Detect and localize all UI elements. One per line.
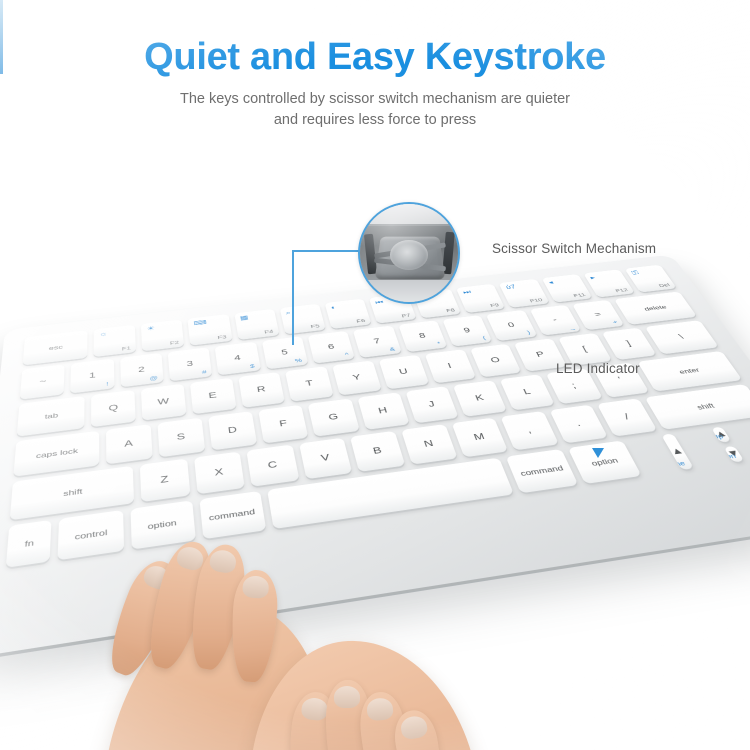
key-b[interactable]: B — [350, 431, 405, 472]
subtitle-line-2: and requires less force to press — [0, 110, 750, 131]
key-fn-icon: ☀ — [146, 325, 155, 333]
key-v[interactable]: V — [299, 438, 353, 480]
key-function-legend: F12 — [614, 287, 629, 293]
key-~[interactable]: ~ — [20, 364, 65, 399]
key-function-legend: F2 — [170, 339, 180, 346]
key-label: = — [593, 311, 603, 318]
key-label: command — [208, 507, 255, 521]
key-label: command — [519, 464, 564, 477]
key-label: P — [535, 351, 546, 359]
key-label: Z — [160, 475, 169, 485]
keyboard-row-function-row: esc☼F1☀F2⌨F3▦F4⌕F5◐F6⏮F7⏯F8⏭F9ὐ7F10◂F11▸… — [23, 265, 677, 366]
key-f1[interactable]: ☼F1 — [94, 325, 137, 357]
key-label: , — [526, 426, 533, 435]
key-label: option — [590, 456, 619, 467]
keyboard-key-layer: esc☼F1☀F2⌨F3▦F4⌕F5◐F6⏮F7⏯F8⏭F9ὐ7F10◂F11▸… — [0, 265, 750, 636]
key-4[interactable]: 4$ — [215, 342, 261, 376]
fingernail — [301, 697, 329, 722]
key-label: N — [423, 439, 435, 449]
key-label: enter — [678, 367, 701, 375]
key-secondary-legend: % — [294, 357, 302, 364]
key-fn-icon: ⌕ — [285, 309, 291, 316]
key-shift[interactable]: shift — [645, 384, 750, 430]
key-label: X — [214, 467, 224, 477]
key-m[interactable]: M — [451, 418, 508, 458]
key-k[interactable]: K — [453, 380, 507, 417]
key-label: tab — [45, 412, 59, 420]
keyboard-row-shift-row: shiftZXCVBNM,./shift — [10, 384, 750, 520]
key-label: 0 — [507, 322, 516, 329]
key-f4[interactable]: ▦F4 — [234, 309, 279, 340]
callout-label-led-indicator: LED Indicator — [556, 361, 640, 376]
key-control[interactable]: control — [58, 510, 123, 560]
key-function-legend: F10 — [529, 297, 544, 304]
key-label: 4 — [234, 354, 242, 362]
key-del[interactable]: ⚿Del — [624, 265, 676, 293]
key-label: C — [267, 460, 278, 470]
key-label: Q — [108, 404, 118, 413]
key-][interactable]: ] — [602, 328, 657, 360]
key-r[interactable]: R — [238, 372, 285, 408]
key-f11[interactable]: ◂F11 — [541, 274, 592, 302]
key-secondary-legend: $ — [250, 363, 255, 369]
key-label: I — [447, 362, 453, 370]
key-7[interactable]: 7& — [353, 326, 401, 358]
key-u[interactable]: U — [379, 355, 429, 389]
key-secondary-legend: & — [389, 346, 396, 352]
key-label: 1 — [89, 372, 96, 380]
key-arrow-home[interactable]: ▲Home — [661, 433, 694, 470]
key--[interactable]: -_ — [529, 305, 581, 336]
key-tab[interactable]: tab — [17, 396, 85, 437]
key-label: O — [489, 356, 501, 364]
key-label: J — [427, 400, 436, 409]
fingernail — [366, 697, 394, 721]
key-function-legend: F6 — [356, 318, 366, 324]
key-fn-icon: ▦ — [239, 314, 249, 321]
key-label: control — [75, 528, 108, 541]
key-8[interactable]: 8* — [398, 320, 447, 352]
led-pointer-arrowhead — [592, 448, 604, 458]
keyboard-chassis: esc☼F1☀F2⌨F3▦F4⌕F5◐F6⏮F7⏯F8⏭F9ὐ7F10◂F11▸… — [0, 255, 750, 659]
key-w[interactable]: W — [141, 384, 186, 421]
key-command[interactable]: command — [199, 491, 266, 539]
inset-gloss-highlight — [360, 204, 458, 302]
keyboard-row-number-row: ~1!2@3#4$5%6^7&8*9(0)-_=+delete — [20, 291, 697, 399]
key-label: B — [372, 446, 383, 456]
arrow-column-middle: ▲PgUp▼PgDn — [679, 427, 745, 468]
key-label: M — [473, 432, 486, 442]
key-delete[interactable]: delete — [614, 291, 697, 324]
key-secondary-legend: _ — [568, 324, 575, 330]
key-caps-lock[interactable]: caps lock — [13, 431, 98, 477]
key-f[interactable]: F — [258, 405, 308, 444]
key-f3[interactable]: ⌨F3 — [188, 314, 232, 345]
key-label: shift — [63, 487, 82, 497]
fingernail — [208, 548, 237, 574]
key-label: 3 — [186, 360, 193, 368]
key-function-legend: F9 — [489, 302, 500, 308]
key-spacebar[interactable] — [267, 458, 514, 529]
arrow-key-cluster: ▲Home▲PgUp▼PgDn▶End — [629, 420, 750, 475]
key-label: [ — [581, 345, 588, 352]
key-label: ~ — [39, 377, 47, 385]
key-f10[interactable]: ὐ7F10 — [499, 279, 549, 308]
arrow-secondary-legend: PgUp — [711, 433, 725, 443]
key-fn-icon: ◐ — [330, 304, 337, 310]
arrow-secondary-legend: Home — [661, 459, 687, 470]
key-z[interactable]: Z — [140, 459, 190, 502]
key-secondary-legend: + — [611, 319, 618, 325]
key-secondary-legend: ( — [482, 335, 487, 341]
key-label: delete — [643, 304, 668, 311]
key-function-legend: F7 — [401, 312, 411, 318]
key-label: L — [522, 388, 532, 397]
key-label: A — [124, 439, 133, 449]
key-function-legend: Del — [657, 282, 671, 288]
page-title: Quiet and Easy Keystroke — [0, 38, 750, 78]
key-secondary-legend: ^ — [344, 351, 349, 357]
key-label: W — [157, 397, 169, 406]
key-f5[interactable]: ⌕F5 — [280, 304, 326, 335]
key-fn-icon: ⏭ — [462, 289, 472, 296]
key-1[interactable]: 1! — [71, 359, 114, 394]
key-label: F — [279, 419, 288, 428]
key-secondary-legend: @ — [149, 375, 158, 382]
arrow-glyph-icon: ▲ — [713, 430, 730, 440]
product-feature-slide: Quiet and Easy Keystroke The keys contro… — [0, 0, 750, 750]
key-label: ] — [625, 340, 632, 347]
key-label: D — [227, 426, 237, 436]
keyboard-row-qwerty-row: tabQWERTYUIOP[]\ — [17, 320, 719, 436]
key-5[interactable]: 5% — [262, 336, 309, 369]
fingernail — [399, 714, 428, 740]
key-label: fn — [24, 539, 34, 548]
key-secondary-legend: # — [202, 369, 207, 376]
key-command[interactable]: command — [506, 449, 579, 493]
key-j[interactable]: J — [405, 386, 458, 423]
callout-label-scissor-switch: Scissor Switch Mechanism — [492, 241, 656, 256]
key-label: shift — [695, 402, 715, 410]
key-a[interactable]: A — [106, 424, 153, 464]
key-label: option — [147, 519, 177, 531]
key-label: K — [474, 394, 485, 403]
key-secondary-legend: ) — [526, 329, 531, 335]
key-label: ' — [617, 376, 623, 384]
key-y[interactable]: Y — [332, 360, 381, 395]
scissor-switch-magnifier-inset — [358, 202, 460, 304]
key-fn-icon: ◂ — [547, 279, 555, 285]
key-label: U — [398, 368, 409, 376]
arrow-column-right: ▶End — [729, 420, 750, 460]
key-6[interactable]: 6^ — [308, 331, 356, 364]
arrow-glyph-icon: ▼ — [725, 449, 742, 459]
key-f12[interactable]: ▸F12 — [583, 269, 635, 297]
key-h[interactable]: H — [357, 392, 409, 430]
key-function-legend: F11 — [572, 292, 586, 298]
key-function-legend: F8 — [445, 307, 456, 313]
key-label: H — [377, 406, 388, 415]
key-s[interactable]: S — [157, 418, 205, 458]
key-f9[interactable]: ⏭F9 — [456, 284, 505, 313]
key-9[interactable]: 9( — [442, 315, 492, 346]
fingernail — [334, 686, 360, 708]
key-label: 2 — [138, 366, 145, 374]
key-enter[interactable]: enter — [637, 351, 742, 392]
key-arrow-pgup[interactable]: ▲PgUp — [711, 427, 732, 443]
key-label: caps lock — [36, 447, 78, 459]
key-t[interactable]: T — [285, 366, 333, 401]
key-label: . — [575, 419, 582, 428]
key-function-legend: F3 — [217, 334, 227, 341]
scissor-leader-line-vertical — [292, 250, 294, 345]
key-function-legend: F4 — [264, 328, 274, 335]
key-/[interactable]: / — [597, 398, 657, 436]
key-secondary-legend: * — [436, 340, 441, 346]
key-label: 7 — [373, 338, 381, 346]
key-label: E — [208, 391, 217, 400]
key-label: S — [176, 432, 185, 442]
key-c[interactable]: C — [247, 445, 300, 487]
key-fn-icon: ⚿ — [630, 270, 640, 277]
key-,[interactable]: , — [501, 411, 559, 450]
key-secondary-legend: ! — [106, 381, 108, 387]
arrow-secondary-legend: PgDn — [723, 452, 738, 462]
key-i[interactable]: I — [424, 349, 475, 383]
arrow-column-left: ▲Home — [629, 433, 694, 474]
key-fn-icon: ☼ — [99, 330, 108, 337]
key-label: T — [305, 379, 314, 387]
key-f6[interactable]: ◐F6 — [325, 299, 372, 329]
key-g[interactable]: G — [308, 398, 359, 436]
key-option[interactable]: option — [568, 440, 642, 484]
key-function-legend: F5 — [310, 323, 320, 329]
key-3[interactable]: 3# — [168, 347, 213, 381]
keyboard-row-bottom-row: fncontroloptioncommandcommandoption▲Home… — [6, 420, 750, 568]
key-fn[interactable]: fn — [6, 520, 52, 568]
key-label: \ — [677, 333, 685, 340]
key-arrow-pgdn[interactable]: ▼PgDn — [723, 446, 745, 463]
scissor-leader-line-horizontal — [292, 250, 360, 252]
key-function-legend: F1 — [122, 345, 131, 352]
key-shift[interactable]: shift — [10, 466, 134, 520]
key-q[interactable]: Q — [91, 390, 135, 427]
key-2[interactable]: 2@ — [120, 353, 164, 387]
key-label: 6 — [327, 343, 335, 351]
key-\[interactable]: \ — [645, 320, 719, 354]
key-x[interactable]: X — [194, 452, 245, 495]
key-o[interactable]: O — [470, 344, 522, 378]
key-e[interactable]: E — [190, 378, 236, 414]
subtitle-line-1: The keys controlled by scissor switch me… — [0, 89, 750, 110]
key-label: ; — [570, 382, 577, 390]
fingernail — [242, 575, 269, 599]
key-esc[interactable]: esc — [23, 330, 88, 365]
key-label: G — [328, 413, 339, 422]
key-label: - — [551, 316, 558, 323]
page-subtitle: The keys controlled by scissor switch me… — [0, 89, 750, 130]
key-d[interactable]: D — [208, 411, 257, 450]
key-label: 9 — [463, 327, 472, 334]
key-label: 5 — [281, 349, 289, 357]
key-=[interactable]: =+ — [572, 300, 625, 330]
key-label: R — [256, 385, 266, 394]
key-label: V — [320, 453, 331, 463]
keyboard-photo: esc☼F1☀F2⌨F3▦F4⌕F5◐F6⏮F7⏯F8⏭F9ὐ7F10◂F11▸… — [0, 240, 750, 710]
arrow-glyph-icon: ▲ — [669, 446, 686, 456]
key-l[interactable]: L — [500, 374, 555, 410]
key-label: esc — [49, 344, 63, 351]
key-fn-icon: ὐ7 — [505, 284, 517, 291]
key-label: / — [623, 413, 631, 422]
key-.[interactable]: . — [549, 405, 608, 444]
key-label: Y — [352, 373, 362, 381]
key-fn-icon: ▸ — [589, 275, 597, 281]
key-n[interactable]: N — [401, 424, 457, 464]
key-label: 8 — [418, 332, 427, 340]
key-fn-icon: ⌨ — [193, 319, 207, 327]
key-f2[interactable]: ☀F2 — [141, 319, 184, 351]
key-0[interactable]: 0) — [486, 310, 537, 341]
